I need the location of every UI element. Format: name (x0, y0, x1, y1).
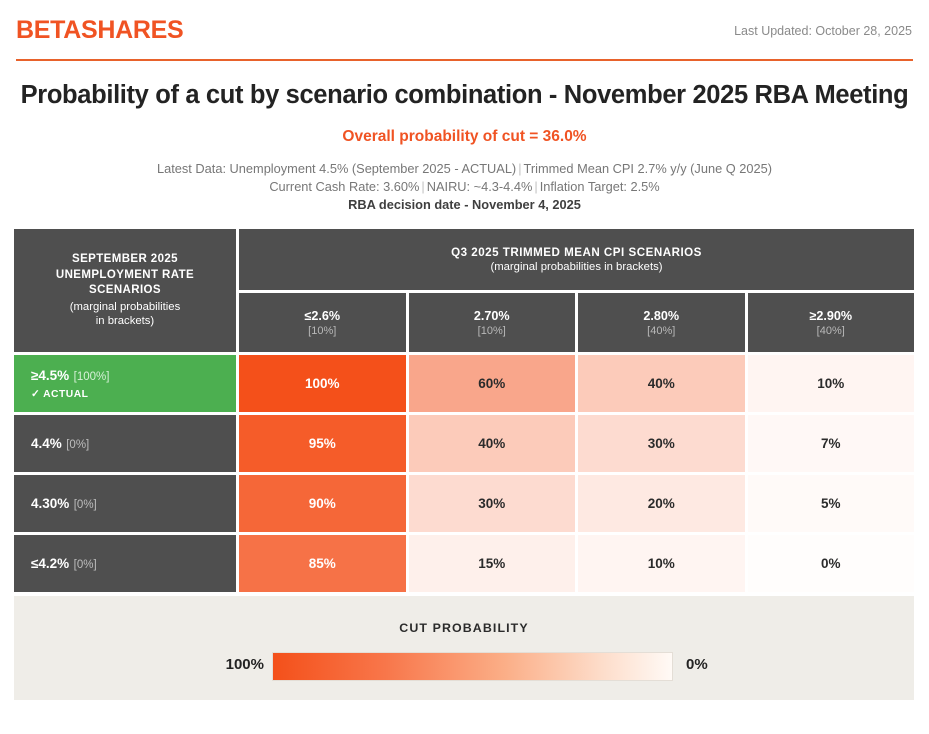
row-header-label: 4.4% (31, 436, 62, 451)
column-header-cell: ≥2.90% [40%] (748, 293, 915, 352)
column-header-marginal: [40%] (647, 325, 675, 337)
meta-cash-rate: Current Cash Rate: 3.60% (269, 179, 419, 194)
matrix-row-cells: 85% 15% 10% 0% (239, 535, 914, 592)
row-header-marginal: [100%] (74, 371, 110, 383)
column-header-marginal: [40%] (817, 325, 845, 337)
matrix-row: ≤4.2% [0%] 85% 15% 10% 0% (14, 535, 914, 592)
heatmap-cell: 15% (409, 535, 576, 592)
row-header-marginal: [0%] (74, 499, 97, 511)
row-header-cell: 4.4% [0%] (14, 415, 236, 472)
column-header-label: ≥2.90% (809, 309, 852, 323)
overall-probability-label: Overall probability of cut = 36.0% (0, 128, 929, 146)
heatmap-cell: 0% (748, 535, 915, 592)
meta-nairu: NAIRU: ~4.3-4.4% (427, 179, 533, 194)
heatmap-cell: 90% (239, 475, 406, 532)
matrix-row: 4.4% [0%] 95% 40% 30% 7% (14, 415, 914, 472)
row-axis-title-line3: SCENARIOS (89, 284, 161, 296)
heatmap-cell: 10% (578, 535, 745, 592)
last-updated-label: Last Updated: October 28, 2025 (734, 24, 912, 38)
page-header: BETASHARES Last Updated: October 28, 202… (0, 0, 929, 62)
matrix-row: ≥4.5% [100%] ✓ ACTUAL 100% 60% 40% 10% (14, 355, 914, 412)
color-legend: CUT PROBABILITY 100% 0% (14, 596, 914, 700)
scenario-matrix: SEPTEMBER 2025 UNEMPLOYMENT RATE SCENARI… (14, 229, 914, 592)
brand-logo: BETASHARES (16, 16, 183, 45)
column-axis-title: Q3 2025 TRIMMED MEAN CPI SCENARIOS (451, 246, 702, 259)
actual-badge: ✓ ACTUAL (31, 388, 236, 400)
column-header-cell: 2.80% [40%] (578, 293, 745, 352)
meta-decision-date: RBA decision date - November 4, 2025 (0, 196, 929, 214)
row-header-marginal: [0%] (74, 559, 97, 571)
column-headers-row: ≤2.6% [10%] 2.70% [10%] 2.80% [40%] ≥2.9… (239, 293, 914, 352)
row-axis-note-line2: in brackets) (96, 315, 154, 327)
matrix-row-cells: 95% 40% 30% 7% (239, 415, 914, 472)
row-header-label: 4.30% (31, 496, 69, 511)
matrix-row-cells: 90% 30% 20% 5% (239, 475, 914, 532)
heatmap-cell: 10% (748, 355, 915, 412)
row-axis-title-line1: SEPTEMBER 2025 (72, 253, 178, 265)
heatmap-cell: 30% (409, 475, 576, 532)
column-header-marginal: [10%] (308, 325, 336, 337)
matrix-header-row: SEPTEMBER 2025 UNEMPLOYMENT RATE SCENARI… (14, 229, 914, 352)
column-header-marginal: [10%] (478, 325, 506, 337)
legend-max-value-label: 100% (212, 656, 264, 673)
column-header-label: 2.70% (474, 309, 510, 323)
heatmap-cell: 60% (409, 355, 576, 412)
row-header-cell: 4.30% [0%] (14, 475, 236, 532)
heatmap-cell: 40% (578, 355, 745, 412)
heatmap-cell: 30% (578, 415, 745, 472)
column-header-label: ≤2.6% (304, 309, 340, 323)
legend-title: CUT PROBABILITY (14, 621, 914, 635)
column-axis-title-band: Q3 2025 TRIMMED MEAN CPI SCENARIOS (marg… (239, 229, 914, 290)
meta-cpi: Trimmed Mean CPI 2.7% y/y (June Q 2025) (524, 161, 772, 176)
column-header-cell: ≤2.6% [10%] (239, 293, 406, 352)
heatmap-cell: 5% (748, 475, 915, 532)
header-divider (16, 59, 913, 61)
legend-gradient-bar (272, 652, 673, 681)
column-header-label: 2.80% (643, 309, 679, 323)
row-header-cell: ≤4.2% [0%] (14, 535, 236, 592)
row-header-label: ≥4.5% (31, 368, 69, 383)
heatmap-cell: 95% (239, 415, 406, 472)
column-axis-note: (marginal probabilities in brackets) (490, 261, 662, 273)
heatmap-cell: 100% (239, 355, 406, 412)
row-header-cell: ≥4.5% [100%] ✓ ACTUAL (14, 355, 236, 412)
heatmap-cell: 85% (239, 535, 406, 592)
heatmap-cell: 7% (748, 415, 915, 472)
meta-unemployment: Latest Data: Unemployment 4.5% (Septembe… (157, 161, 516, 176)
matrix-row-cells: 100% 60% 40% 10% (239, 355, 914, 412)
meta-inflation-target: Inflation Target: 2.5% (540, 179, 660, 194)
page-title: Probability of a cut by scenario combina… (0, 81, 929, 110)
row-axis-header: SEPTEMBER 2025 UNEMPLOYMENT RATE SCENARI… (14, 229, 236, 352)
row-axis-note-line1: (marginal probabilities (70, 301, 181, 313)
column-header-cell: 2.70% [10%] (409, 293, 576, 352)
meta-separator: | (516, 161, 523, 176)
meta-separator: | (532, 179, 539, 194)
meta-separator: | (419, 179, 426, 194)
column-axis-header: Q3 2025 TRIMMED MEAN CPI SCENARIOS (marg… (239, 229, 914, 352)
heatmap-cell: 40% (409, 415, 576, 472)
matrix-row: 4.30% [0%] 90% 30% 20% 5% (14, 475, 914, 532)
heatmap-cell: 20% (578, 475, 745, 532)
row-header-label: ≤4.2% (31, 556, 69, 571)
legend-min-value-label: 0% (686, 656, 708, 673)
row-axis-title-line2: UNEMPLOYMENT RATE (56, 269, 194, 281)
meta-info: Latest Data: Unemployment 4.5% (Septembe… (0, 160, 929, 214)
row-header-marginal: [0%] (66, 439, 89, 451)
